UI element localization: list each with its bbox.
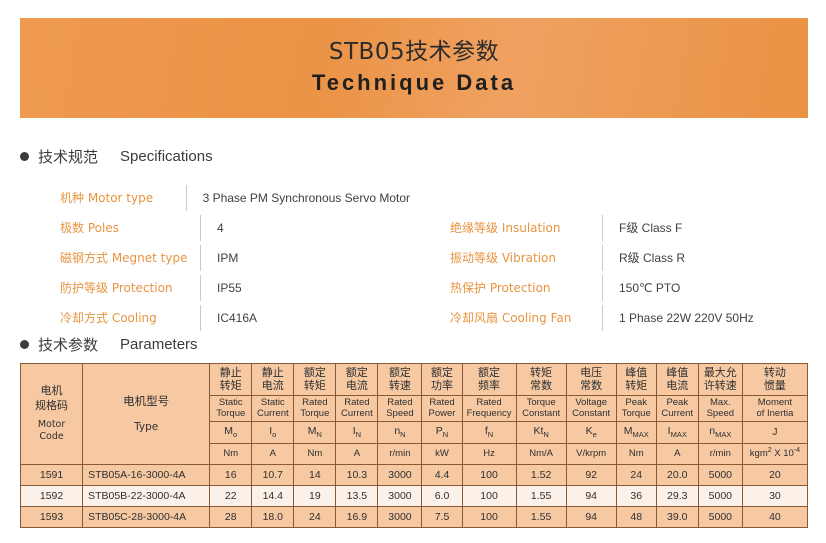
motor-code-en2: Code [21, 431, 82, 443]
spec-value: R级 Class R [603, 243, 685, 273]
cell-value: 28 [210, 507, 252, 528]
spec-label: 机种 Motor type [60, 183, 186, 213]
cell-value: 39.0 [656, 507, 698, 528]
cell-value: 20.0 [656, 465, 698, 486]
bullet-icon [20, 340, 29, 349]
cell-model-type: STB05B-22-3000-4A [83, 486, 210, 507]
header-en-rated-power: RatedPower [422, 396, 462, 422]
header-en-torque-constant: TorqueConstant [516, 396, 566, 422]
spec-label: 振动等级 Vibration [450, 243, 602, 273]
header-cn-max-speed: 最大允许转速 [698, 364, 742, 396]
cell-value: 1.52 [516, 465, 566, 486]
cell-value: 10.3 [336, 465, 378, 486]
cell-value: 24 [294, 507, 336, 528]
cell-value: 10.7 [252, 465, 294, 486]
header-cn-voltage-constant: 电压常数 [566, 364, 616, 396]
cell-value: 16.9 [336, 507, 378, 528]
motor-code-cn2: 规格码 [21, 399, 82, 414]
header-cn-rated-speed: 额定转速 [378, 364, 422, 396]
spec-row-cooling-fan: 冷却风扇 Cooling Fan 1 Phase 22W 220V 50Hz [450, 303, 820, 333]
cell-value: 24 [616, 465, 656, 486]
cell-value: 30 [742, 486, 807, 507]
banner-title-cn: STB05技术参数 [329, 38, 499, 67]
spec-row-cooling: 冷却方式 Cooling IC416A [60, 303, 410, 333]
cell-value: 94 [566, 507, 616, 528]
unit-rated-speed: r/min [378, 444, 422, 465]
spec-label: 冷却风扇 Cooling Fan [450, 303, 602, 333]
cell-value: 20 [742, 465, 807, 486]
cell-motor-code: 1591 [21, 465, 83, 486]
parameters-heading-cn: 技术参数 [38, 334, 98, 355]
cell-value: 3000 [378, 465, 422, 486]
header-cn-moment-of-inertia: 转动惯量 [742, 364, 807, 396]
table-row: 1591STB05A-16-3000-4A1610.71410.330004.4… [21, 465, 808, 486]
spec-row-vibration: 振动等级 Vibration R级 Class R [450, 243, 820, 273]
cell-value: 5000 [698, 465, 742, 486]
cell-value: 29.3 [656, 486, 698, 507]
spec-value: IC416A [201, 303, 257, 333]
spec-row-motor-type: 机种 Motor type 3 Phase PM Synchronous Ser… [60, 183, 410, 213]
unit-rated-torque: Nm [294, 444, 336, 465]
spec-label: 绝缘等级 Insulation [450, 213, 602, 243]
symbol-peak-torque: MMAX [616, 422, 656, 444]
header-en-peak-current: PeakCurrent [656, 396, 698, 422]
parameters-table-head: 电机 规格码 Motor Code 电机型号 Type 静止转矩 静止电流 额定… [21, 364, 808, 465]
unit-rated-power: kW [422, 444, 462, 465]
spec-row-protection: 防护等级 Protection IP55 [60, 273, 410, 303]
spec-value: IPM [201, 243, 238, 273]
header-en-static-torque: StaticTorque [210, 396, 252, 422]
banner-title-en: Technique Data [312, 69, 516, 98]
spec-row-magnet-type: 磁钢方式 Megnet type IPM [60, 243, 410, 273]
spec-value: 1 Phase 22W 220V 50Hz [603, 303, 754, 333]
header-en-rated-frequency: RatedFrequency [462, 396, 516, 422]
header-en-rated-speed: RatedSpeed [378, 396, 422, 422]
specifications-column-left: 机种 Motor type 3 Phase PM Synchronous Ser… [60, 183, 410, 333]
parameters-heading-en: Parameters [120, 336, 198, 353]
header-en-voltage-constant: VoltageConstant [566, 396, 616, 422]
cell-value: 40 [742, 507, 807, 528]
unit-static-current: A [252, 444, 294, 465]
parameters-table-body: 1591STB05A-16-3000-4A1610.71410.330004.4… [21, 465, 808, 528]
specifications-heading-cn: 技术规范 [38, 146, 98, 167]
cell-value: 19 [294, 486, 336, 507]
spec-label: 极数 Poles [60, 213, 200, 243]
symbol-static-current: Io [252, 422, 294, 444]
unit-rated-frequency: Hz [462, 444, 516, 465]
unit-max-speed: r/min [698, 444, 742, 465]
parameters-table: 电机 规格码 Motor Code 电机型号 Type 静止转矩 静止电流 额定… [20, 363, 808, 528]
cell-value: 100 [462, 507, 516, 528]
cell-value: 100 [462, 465, 516, 486]
cell-value: 100 [462, 486, 516, 507]
cell-value: 22 [210, 486, 252, 507]
spec-value: F级 Class F [603, 213, 682, 243]
symbol-rated-speed: nN [378, 422, 422, 444]
header-cn-static-torque: 静止转矩 [210, 364, 252, 396]
page-banner: STB05技术参数 Technique Data [20, 18, 808, 118]
cell-motor-code: 1592 [21, 486, 83, 507]
table-row: 1592STB05B-22-3000-4A2214.41913.530006.0… [21, 486, 808, 507]
cell-value: 5000 [698, 507, 742, 528]
specifications-column-right: 绝缘等级 Insulation F级 Class F 振动等级 Vibratio… [450, 213, 820, 333]
spec-row-poles: 极数 Poles 4 [60, 213, 410, 243]
cell-value: 14.4 [252, 486, 294, 507]
symbol-static-torque: Mo [210, 422, 252, 444]
spec-value: IP55 [201, 273, 242, 303]
header-cn-rated-frequency: 额定频率 [462, 364, 516, 396]
spec-label: 热保护 Protection [450, 273, 602, 303]
cell-value: 14 [294, 465, 336, 486]
header-en-static-current: StaticCurrent [252, 396, 294, 422]
parameters-heading: 技术参数 Parameters [20, 334, 198, 355]
spec-label: 防护等级 Protection [60, 273, 200, 303]
spec-row-thermal-protection: 热保护 Protection 150℃ PTO [450, 273, 820, 303]
symbol-rated-torque: MN [294, 422, 336, 444]
cell-value: 5000 [698, 486, 742, 507]
symbol-max-speed: nMAX [698, 422, 742, 444]
specifications-heading-en: Specifications [120, 148, 213, 165]
symbol-rated-current: IN [336, 422, 378, 444]
header-en-rated-current: RatedCurrent [336, 396, 378, 422]
header-cn-rated-torque: 额定转矩 [294, 364, 336, 396]
spec-row-insulation: 绝缘等级 Insulation F级 Class F [450, 213, 820, 243]
header-cn-peak-current: 峰值电流 [656, 364, 698, 396]
symbol-torque-constant: KtN [516, 422, 566, 444]
motor-code-cn1: 电机 [21, 384, 82, 399]
header-cn-rated-power: 额定功率 [422, 364, 462, 396]
cell-value: 3000 [378, 486, 422, 507]
header-motor-code: 电机 规格码 Motor Code [21, 364, 83, 465]
cell-model-type: STB05C-28-3000-4A [83, 507, 210, 528]
header-en-rated-torque: RatedTorque [294, 396, 336, 422]
header-type: 电机型号 Type [83, 364, 210, 465]
cell-model-type: STB05A-16-3000-4A [83, 465, 210, 486]
cell-value: 92 [566, 465, 616, 486]
cell-value: 48 [616, 507, 656, 528]
symbol-peak-current: IMAX [656, 422, 698, 444]
spec-value: 150℃ PTO [603, 273, 680, 303]
symbol-rated-frequency: fN [462, 422, 516, 444]
type-en: Type [83, 421, 209, 433]
type-cn: 电机型号 [83, 395, 209, 408]
unit-static-torque: Nm [210, 444, 252, 465]
unit-voltage-constant: V/krpm [566, 444, 616, 465]
header-cn-rated-current: 额定电流 [336, 364, 378, 396]
header-cn-peak-torque: 峰值转矩 [616, 364, 656, 396]
cell-value: 18.0 [252, 507, 294, 528]
header-row-cn: 电机 规格码 Motor Code 电机型号 Type 静止转矩 静止电流 额定… [21, 364, 808, 396]
symbol-voltage-constant: Ke [566, 422, 616, 444]
cell-value: 4.4 [422, 465, 462, 486]
header-cn-static-current: 静止电流 [252, 364, 294, 396]
bullet-icon [20, 152, 29, 161]
header-cn-torque-constant: 转矩常数 [516, 364, 566, 396]
cell-value: 16 [210, 465, 252, 486]
spec-label: 磁钢方式 Megnet type [60, 243, 200, 273]
unit-torque-constant: Nm/A [516, 444, 566, 465]
cell-value: 13.5 [336, 486, 378, 507]
header-en-peak-torque: PeakTorque [616, 396, 656, 422]
cell-value: 94 [566, 486, 616, 507]
unit-moment-of-inertia: kgm2 X 10-4 [742, 444, 807, 465]
cell-motor-code: 1593 [21, 507, 83, 528]
spec-value: 3 Phase PM Synchronous Servo Motor [187, 183, 410, 213]
symbol-rated-power: PN [422, 422, 462, 444]
spec-value: 4 [201, 213, 224, 243]
table-row: 1593STB05C-28-3000-4A2818.02416.930007.5… [21, 507, 808, 528]
specifications-heading: 技术规范 Specifications [20, 146, 213, 167]
unit-peak-torque: Nm [616, 444, 656, 465]
cell-value: 7.5 [422, 507, 462, 528]
motor-code-en1: Motor [21, 419, 82, 431]
unit-peak-current: A [656, 444, 698, 465]
spec-label: 冷却方式 Cooling [60, 303, 200, 333]
cell-value: 36 [616, 486, 656, 507]
header-en-moment-of-inertia: Momentof Inertia [742, 396, 807, 422]
cell-value: 6.0 [422, 486, 462, 507]
symbol-moment-of-inertia: J [742, 422, 807, 444]
header-en-max-speed: Max.Speed [698, 396, 742, 422]
cell-value: 3000 [378, 507, 422, 528]
cell-value: 1.55 [516, 486, 566, 507]
cell-value: 1.55 [516, 507, 566, 528]
unit-rated-current: A [336, 444, 378, 465]
